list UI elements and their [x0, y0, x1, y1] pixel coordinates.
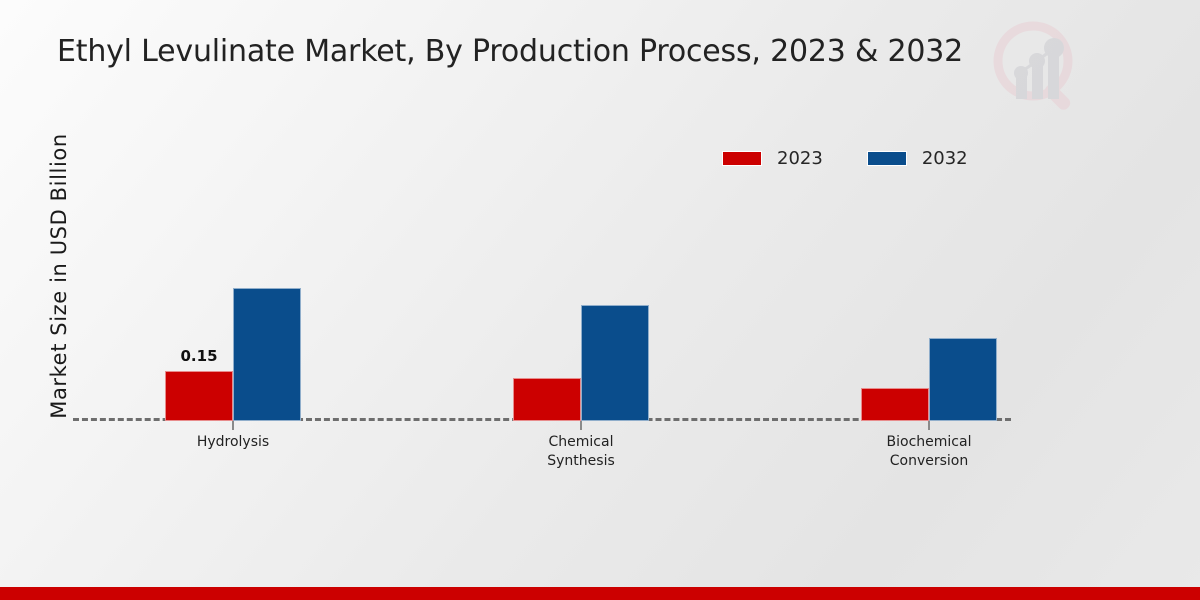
- magnifier-bar-chart-logo-icon: [988, 16, 1092, 120]
- bar-2023-hydrolysis[interactable]: [165, 371, 233, 421]
- x-axis-label-line: Hydrolysis: [123, 433, 343, 452]
- bar-2032-biochemical-conversion[interactable]: [929, 338, 997, 421]
- bar-value-label: 0.15: [180, 347, 217, 365]
- plot-area: 0.15HydrolysisChemicalSynthesisBiochemic…: [73, 180, 1011, 421]
- legend-swatch-2032: [867, 151, 907, 166]
- x-axis-label-line: Conversion: [819, 452, 1039, 471]
- x-axis-label-hydrolysis: Hydrolysis: [123, 433, 343, 452]
- bar-2023-biochemical-conversion[interactable]: [861, 388, 929, 421]
- legend-item-2023[interactable]: 2023: [722, 148, 823, 169]
- footer-bar: [0, 587, 1200, 600]
- bar-group: [861, 180, 997, 421]
- legend-swatch-2023: [722, 151, 762, 166]
- y-axis-title: Market Size in USD Billion: [47, 111, 71, 441]
- x-axis-label-line: Chemical: [471, 433, 691, 452]
- x-axis-tick: [928, 421, 930, 430]
- legend-label: 2023: [777, 148, 823, 169]
- x-axis-label-line: Biochemical: [819, 433, 1039, 452]
- bar-2023-chemical-synthesis[interactable]: [513, 378, 581, 421]
- chart-page: Ethyl Levulinate Market, By Production P…: [0, 0, 1200, 600]
- bar-2032-chemical-synthesis[interactable]: [581, 305, 649, 421]
- chart-legend: 20232032: [722, 148, 968, 169]
- x-axis-label-line: Synthesis: [471, 452, 691, 471]
- x-axis-label-chemical-synthesis: ChemicalSynthesis: [471, 433, 691, 471]
- bar-group: [513, 180, 649, 421]
- x-axis-tick: [232, 421, 234, 430]
- legend-label: 2032: [922, 148, 968, 169]
- x-axis-tick: [580, 421, 582, 430]
- bar-group: 0.15: [165, 180, 301, 421]
- chart-title: Ethyl Levulinate Market, By Production P…: [57, 34, 963, 69]
- bar-2032-hydrolysis[interactable]: [233, 288, 301, 421]
- legend-item-2032[interactable]: 2032: [867, 148, 968, 169]
- x-axis-label-biochemical-conversion: BiochemicalConversion: [819, 433, 1039, 471]
